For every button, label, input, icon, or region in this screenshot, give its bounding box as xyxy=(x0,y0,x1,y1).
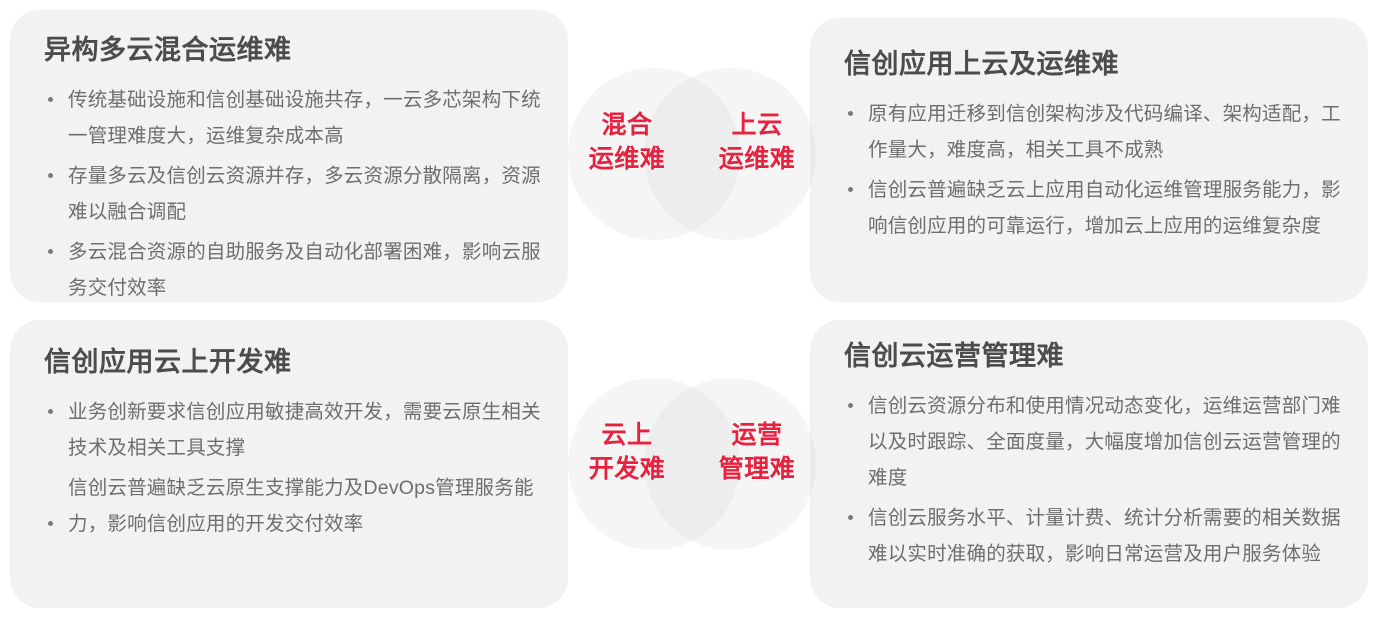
bullet-dot-icon xyxy=(848,187,853,192)
card-title: 异构多云混合运维难 xyxy=(44,34,542,68)
list-item-text: 信创云资源分布和使用情况动态变化，运维运营部门难以及时跟踪、全面度量，大幅度增加… xyxy=(868,395,1341,489)
list-item-text: 信创云普遍缺乏云原生支撑能力及DevOps管理服务能力，影响信创应用的开发交付效… xyxy=(68,477,534,535)
bullet-dot-icon xyxy=(48,97,53,102)
list-item-text: 多云混合资源的自助服务及自动化部署困难，影响云服务交付效率 xyxy=(68,241,541,299)
venn-label-cloud-migration-ops: 上云 运维难 xyxy=(698,108,816,176)
venn-label-hybrid-ops: 混合 运维难 xyxy=(568,108,686,176)
venn-label-cloud-development: 云上 开发难 xyxy=(568,418,686,486)
list-item-text: 存量多云及信创云资源并存，多云资源分散隔离，资源难以融合调配 xyxy=(68,165,541,223)
venn-label-line-2: 管理难 xyxy=(698,452,816,486)
venn-label-line-1: 上云 xyxy=(698,108,816,142)
venn-label-line-1: 云上 xyxy=(568,418,686,452)
card-heterogeneous-multicloud-ops: 异构多云混合运维难 传统基础设施和信创基础设施共存，一云多芯架构下统一管理难度大… xyxy=(10,10,568,302)
infographic-board: 异构多云混合运维难 传统基础设施和信创基础设施共存，一云多芯架构下统一管理难度大… xyxy=(0,0,1378,620)
list-item: 信创云服务水平、计量计费、统计分析需要的相关数据难以实时准确的获取，影响日常运营… xyxy=(844,500,1342,572)
bullet-dot-icon xyxy=(848,403,853,408)
bullet-list: 信创云资源分布和使用情况动态变化，运维运营部门难以及时跟踪、全面度量，大幅度增加… xyxy=(844,388,1342,572)
list-item: 信创云普遍缺乏云上应用自动化运维管理服务能力，影响信创应用的可靠运行，增加云上应… xyxy=(844,172,1342,244)
list-item-text: 信创云服务水平、计量计费、统计分析需要的相关数据难以实时准确的获取，影响日常运营… xyxy=(868,507,1341,565)
venn-label-line-2: 开发难 xyxy=(568,452,686,486)
list-item: 业务创新要求信创应用敏捷高效开发，需要云原生相关技术及相关工具支撑 xyxy=(44,394,542,466)
venn-diagram-bottom: 云上 开发难 运营 管理难 xyxy=(568,378,816,550)
list-item: 原有应用迁移到信创架构涉及代码编译、架构适配，工作量大，难度高，相关工具不成熟 xyxy=(844,96,1342,168)
list-item-text: 原有应用迁移到信创架构涉及代码编译、架构适配，工作量大，难度高，相关工具不成熟 xyxy=(868,103,1341,161)
bullet-list: 原有应用迁移到信创架构涉及代码编译、架构适配，工作量大，难度高，相关工具不成熟 … xyxy=(844,96,1342,244)
card-title: 信创应用上云及运维难 xyxy=(844,48,1342,82)
bullet-dot-icon xyxy=(48,409,53,414)
card-xinchuang-app-cloud-development: 信创应用云上开发难 业务创新要求信创应用敏捷高效开发，需要云原生相关技术及相关工… xyxy=(10,320,568,608)
bullet-dot-icon xyxy=(848,515,853,520)
list-item-text: 业务创新要求信创应用敏捷高效开发，需要云原生相关技术及相关工具支撑 xyxy=(68,401,541,459)
bullet-dot-icon xyxy=(48,249,53,254)
list-item: 多云混合资源的自助服务及自动化部署困难，影响云服务交付效率 xyxy=(44,234,542,302)
bullet-list: 业务创新要求信创应用敏捷高效开发，需要云原生相关技术及相关工具支撑 信创云普遍缺… xyxy=(44,394,542,542)
list-item: 传统基础设施和信创基础设施共存，一云多芯架构下统一管理难度大，运维复杂成本高 xyxy=(44,82,542,154)
venn-label-line-1: 混合 xyxy=(568,108,686,142)
venn-diagram-top: 混合 运维难 上云 运维难 xyxy=(568,68,816,240)
bullet-list: 传统基础设施和信创基础设施共存，一云多芯架构下统一管理难度大，运维复杂成本高 存… xyxy=(44,82,542,302)
list-item-text: 传统基础设施和信创基础设施共存，一云多芯架构下统一管理难度大，运维复杂成本高 xyxy=(68,89,541,147)
list-item-text: 信创云普遍缺乏云上应用自动化运维管理服务能力，影响信创应用的可靠运行，增加云上应… xyxy=(868,179,1341,237)
list-item: 存量多云及信创云资源并存，多云资源分散隔离，资源难以融合调配 xyxy=(44,158,542,230)
list-item: 信创云资源分布和使用情况动态变化，运维运营部门难以及时跟踪、全面度量，大幅度增加… xyxy=(844,388,1342,496)
bullet-dot-icon xyxy=(48,173,53,178)
venn-label-line-1: 运营 xyxy=(698,418,816,452)
card-title: 信创应用云上开发难 xyxy=(44,346,542,380)
venn-label-line-2: 运维难 xyxy=(568,142,686,176)
card-xinchuang-app-cloud-migration-ops: 信创应用上云及运维难 原有应用迁移到信创架构涉及代码编译、架构适配，工作量大，难… xyxy=(810,18,1368,302)
card-xinchuang-cloud-operations-management: 信创云运营管理难 信创云资源分布和使用情况动态变化，运维运营部门难以及时跟踪、全… xyxy=(810,320,1368,608)
card-title: 信创云运营管理难 xyxy=(844,340,1342,374)
venn-label-line-2: 运维难 xyxy=(698,142,816,176)
list-item: 信创云普遍缺乏云原生支撑能力及DevOps管理服务能力，影响信创应用的开发交付效… xyxy=(44,470,542,542)
bullet-dot-icon xyxy=(48,521,53,526)
venn-label-operations-management: 运营 管理难 xyxy=(698,418,816,486)
bullet-dot-icon xyxy=(848,111,853,116)
